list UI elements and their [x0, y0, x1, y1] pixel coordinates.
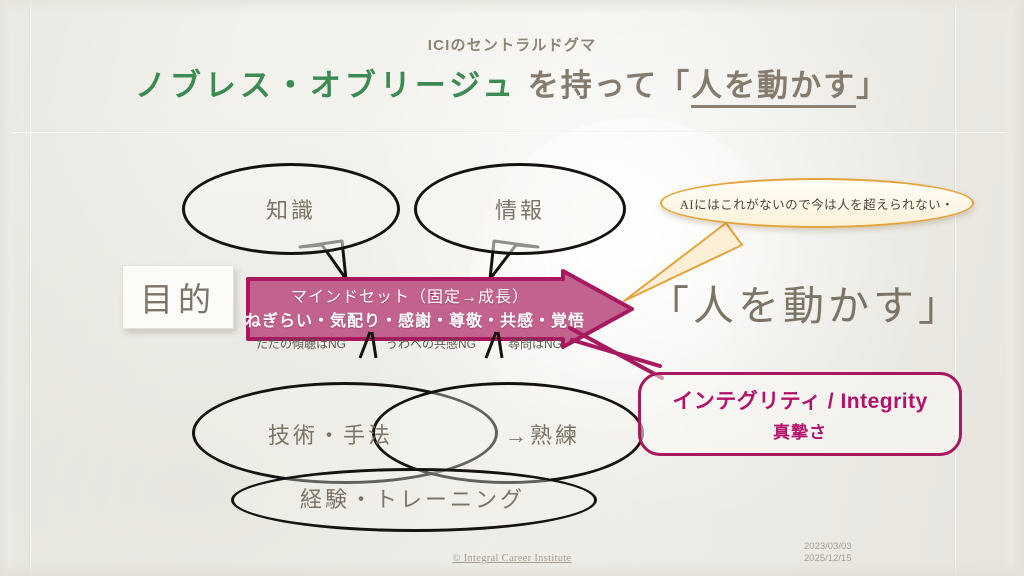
bubble-information-label: 情報 — [495, 193, 545, 225]
page-edge-top — [0, 0, 1024, 14]
title-underlined-segment: 人を動かす — [691, 68, 856, 108]
date-updated: 2025/12/15 — [804, 553, 852, 565]
title-bracket-close: 」 — [856, 68, 889, 103]
bubble-information: 情報 — [414, 163, 626, 255]
title-middle-segment: を持って — [517, 68, 658, 103]
ellipse-experience-label: 経験・トレーニング — [300, 482, 525, 514]
ng-note-2: うわべの共感NG — [386, 335, 476, 352]
date-created: 2023/03/03 — [804, 541, 852, 553]
integrity-line-2: 真摯さ — [773, 418, 827, 443]
date-stamp: 2023/03/03 2025/12/15 — [804, 541, 852, 564]
purpose-label: 目的 — [140, 273, 216, 321]
ng-note-1: ただの傾聴はNG — [256, 335, 346, 352]
frame-line-top — [0, 132, 1024, 133]
title-bracket-open: 「 — [658, 68, 691, 103]
slide-canvas: ICIのセントラルドグマ ノブレス・オブリージュ を持って「人を動かす」 知識 … — [0, 0, 1024, 576]
title-green-segment: ノブレス・オブリージュ — [135, 68, 517, 103]
ellipse-technique-label: 技術・手法 — [268, 418, 393, 450]
integrity-line-1: インテグリティ / Integrity — [672, 385, 928, 415]
slide-title: ノブレス・オブリージュ を持って「人を動かす」 — [0, 60, 1024, 105]
ellipse-mastery-label: →熟練 — [505, 418, 580, 450]
arrow-line-2: ねぎらい・気配り・感謝・尊敬・共感・覚悟 — [245, 307, 575, 331]
integrity-box: インテグリティ / Integrity 真摯さ — [638, 372, 962, 456]
hero-right-text: 「人を動かす」 — [648, 272, 963, 332]
slide-subtitle: ICIのセントラルドグマ — [0, 34, 1024, 55]
bubble-knowledge: 知識 — [182, 163, 400, 255]
callout-text: AIにはこれがないので今は人を超えられない・ — [680, 194, 954, 213]
bubble-knowledge-label: 知識 — [266, 193, 316, 225]
copyright-notice: © Integral Career Institute — [0, 553, 1024, 564]
ng-note-3: 尋問はNG — [508, 335, 562, 352]
callout-bubble: AIにはこれがないので今は人を超えられない・ — [660, 178, 974, 228]
arrow-line-1: マインドセット（固定→成長） — [245, 283, 575, 307]
purpose-box: 目的 — [122, 265, 234, 329]
